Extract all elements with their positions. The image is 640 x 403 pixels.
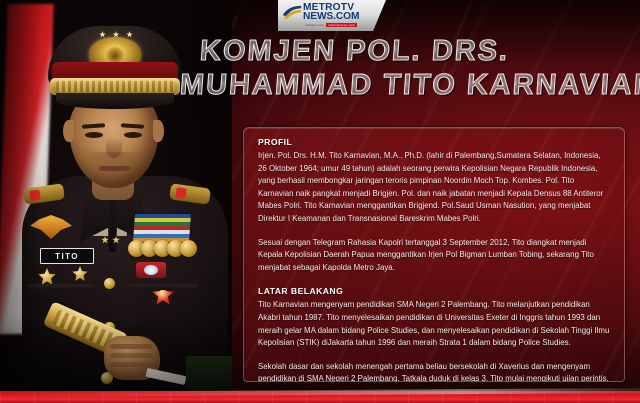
pocket-flap-right	[128, 284, 198, 290]
broadcast-graphic-stage: TITO METROTV NEWS.COM	[0, 0, 640, 403]
section-heading-latar-belakang: LATAR BELAKANG	[258, 286, 611, 296]
pocket-flap-left	[28, 284, 94, 290]
medal-cluster	[132, 240, 204, 262]
metrotv-swoosh-icon	[282, 4, 302, 21]
profil-paragraph-1: Irjen. Pol. Drs. H.M. Tito Karnavian, M.…	[258, 150, 611, 226]
cap-visor	[56, 93, 174, 109]
collar-rank-stars	[101, 236, 127, 244]
title-line-2: MUHAMMAD TITO KARNAVIAN	[179, 68, 631, 102]
logo-subtext-prefix: affiliate with	[305, 23, 324, 27]
uniform-nameplate: TITO	[40, 248, 94, 264]
nose	[106, 138, 122, 158]
profil-paragraph-2: Sesuai dengan Telegram Rahasia Kapolri t…	[258, 237, 611, 275]
metrotvnews-logo[interactable]: METROTV NEWS.COM affiliate withmetrotvne…	[278, 0, 386, 31]
uniform-button	[104, 278, 115, 289]
logo-subtext: affiliate withmetrotvnews.com	[305, 23, 357, 27]
logo-line-2: NEWS.COM	[303, 12, 359, 22]
profile-content-panel: PROFIL Irjen. Pol. Drs. H.M. Tito Karnav…	[243, 127, 625, 382]
nameplate-text: TITO	[55, 252, 79, 261]
mouth	[99, 166, 130, 171]
eye-right	[124, 132, 142, 138]
ear-right	[153, 120, 164, 142]
latar-belakang-paragraph-2: Sekolah dasar dan sekolah menengah perta…	[258, 361, 611, 382]
bottom-red-bar	[0, 391, 640, 403]
section-heading-profil: PROFIL	[258, 137, 611, 147]
logo-subtext-chip: metrotvnews.com	[326, 23, 357, 27]
eye-left	[85, 132, 103, 138]
ear-left	[63, 120, 74, 142]
panel-body[interactable]: PROFIL Irjen. Pol. Drs. H.M. Tito Karnav…	[258, 137, 611, 382]
headline-title: KOMJEN POL. DRS. MUHAMMAD TITO KARNAVIAN	[180, 34, 630, 102]
unit-badge	[136, 262, 166, 278]
service-ribbon-bar	[133, 214, 191, 242]
title-line-1: KOMJEN POL. DRS.	[199, 34, 631, 68]
logo-wordmark: METROTV NEWS.COM	[303, 3, 359, 22]
latar-belakang-paragraph-1: Tito Karnavian mengenyam pendidikan SMA …	[258, 299, 611, 349]
